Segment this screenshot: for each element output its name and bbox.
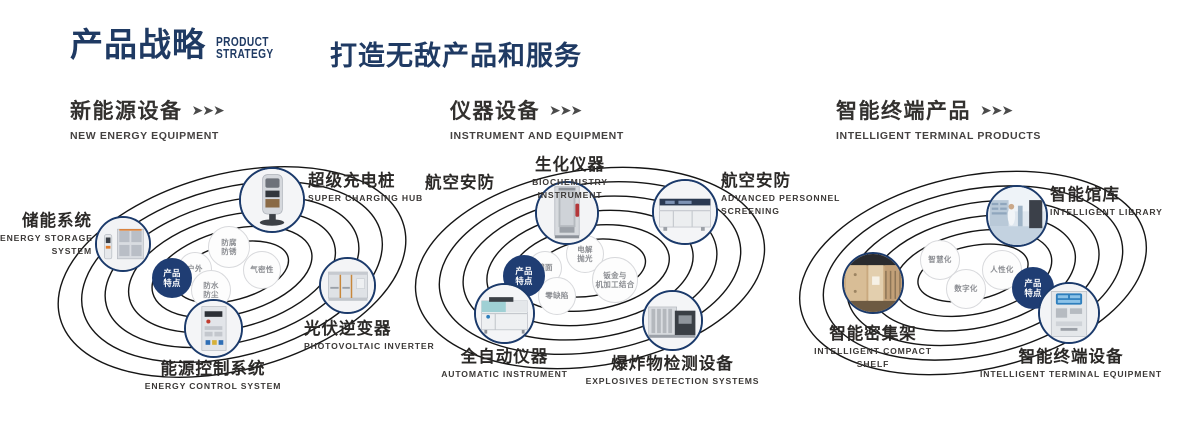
feature-bubble-text-2: 防锈 [221, 247, 237, 256]
feature-bubble: 钣金与 机加工结合 [592, 257, 638, 303]
node-caption-intelligent-terminal-equipment: 智能终端设备 INTELLIGENT TERMINAL EQUIPMENT [962, 348, 1180, 380]
node-explosives-detection-systems[interactable] [642, 290, 703, 351]
node-caption-cn: 全自动仪器 [408, 348, 601, 367]
center-badge-line2: 特点 [163, 278, 180, 288]
compact-shelf-photo [844, 254, 902, 312]
ev-charging-pile-photo [241, 169, 303, 231]
orbit-rings-new-energy [0, 0, 430, 422]
feature-bubble-text: 防水 [203, 281, 219, 290]
feature-bubble: 气密性 [243, 251, 281, 289]
cluster-new-energy: 户外 防腐 防锈 防水 防尘 气密性 产品 特点 [0, 0, 430, 422]
automatic-instrument-photo [476, 285, 533, 342]
node-caption-en-line1: INTELLIGENT LIBRARY [1050, 207, 1163, 218]
feature-bubble-text: 数字化 [954, 284, 977, 293]
node-caption-cn: 爆炸物检测设备 [575, 355, 770, 374]
node-caption-en-line1: BIOCHEMISTRY [505, 177, 635, 188]
node-caption-cn: 能源控制系统 [113, 360, 313, 379]
node-caption-en-line2: SYSTEM [0, 246, 92, 257]
node-caption-cn: 储能系统 [0, 212, 92, 231]
node-caption-explosives-detection-systems: 爆炸物检测设备 EXPLOSIVES DETECTION SYSTEMS [575, 355, 770, 387]
node-caption-cn: 智能终端设备 [962, 348, 1180, 367]
node-caption-en-line1: ENERGY CONTROL SYSTEM [113, 381, 313, 392]
node-caption-en-line2: SHELF [790, 359, 956, 370]
feature-bubble-text-2: 抛光 [577, 254, 593, 263]
feature-bubble-text-2: 机加工结合 [596, 280, 635, 289]
node-energy-storage-system[interactable] [95, 216, 151, 272]
node-photovoltaic-inverter[interactable] [319, 257, 376, 314]
node-caption-cn: 航空安防 [400, 174, 495, 193]
node-intelligent-compact-shelf[interactable] [842, 252, 904, 314]
node-caption-automatic-instrument: 全自动仪器 AUTOMATIC INSTRUMENT [408, 348, 601, 380]
feature-bubble-text: 防腐 [221, 238, 237, 247]
feature-bubble-text: 钣金与 [603, 271, 626, 280]
energy-control-cabinet-photo [186, 301, 241, 356]
node-advanced-personnel-screening[interactable] [652, 179, 718, 245]
node-intelligent-terminal-equipment[interactable] [1038, 282, 1100, 344]
center-badge-line1: 产品 [515, 266, 532, 276]
center-badge-product-features: 产品 特点 [152, 258, 192, 298]
feature-bubble-text: 气密性 [250, 265, 273, 274]
feature-bubble-text: 电解 [577, 245, 593, 254]
node-super-charging-hub[interactable] [239, 167, 305, 233]
node-caption-energy-control-system: 能源控制系统 ENERGY CONTROL SYSTEM [113, 360, 313, 392]
node-caption-en-line1: INTELLIGENT COMPACT [790, 346, 956, 357]
product-strategy-infographic: 产品战略 PRODUCT STRATEGY 打造无敌产品和服务 新能源设备 ➤➤… [0, 0, 1200, 422]
feature-bubble-text: 人性化 [990, 265, 1013, 274]
node-intelligent-library[interactable] [986, 185, 1048, 247]
cluster-instrument: 航空安防 镜面 电解 抛光 零缺陷 钣金与 机加工结合 产品 特点 [390, 0, 820, 422]
energy-storage-cabinet-photo [97, 218, 149, 270]
photovoltaic-inverter-photo [321, 259, 374, 312]
node-caption-en-line1: ENERGY STORAGE [0, 233, 92, 244]
node-energy-control-system[interactable] [184, 299, 243, 358]
intelligent-terminal-kiosk-photo [1040, 284, 1098, 342]
node-caption-cn: 生化仪器 [505, 156, 635, 175]
node-caption-cn: 智能密集架 [790, 325, 956, 344]
node-automatic-instrument[interactable] [474, 283, 535, 344]
center-badge-line1: 产品 [163, 268, 180, 278]
feature-bubble: 数字化 [946, 269, 986, 309]
cluster-intelligent-terminal: 智慧化 数字化 人性化 产品 特点 [780, 0, 1200, 422]
node-caption-intelligent-compact-shelf: 智能密集架 INTELLIGENT COMPACT SHELF [790, 325, 956, 370]
node-caption-cn: 智能馆库 [1050, 186, 1163, 205]
explosives-detection-system-photo [644, 292, 701, 349]
node-caption-en-line1: EXPLOSIVES DETECTION SYSTEMS [575, 376, 770, 387]
node-caption-en-line1: INTELLIGENT TERMINAL EQUIPMENT [962, 369, 1180, 380]
node-caption-energy-storage-system: 储能系统 ENERGY STORAGE SYSTEM [0, 212, 92, 257]
node-caption-en-line1: AUTOMATIC INSTRUMENT [408, 369, 601, 380]
node-caption-aviation-security: 航空安防 [400, 174, 495, 193]
intelligent-library-photo [988, 187, 1046, 245]
feature-bubble-text: 零缺陷 [545, 291, 568, 300]
personnel-screening-machine-photo [654, 181, 716, 243]
node-caption-biochemistry-instrument: 生化仪器 BIOCHEMISTRY INSTRUMENT [505, 156, 635, 201]
feature-bubble-text: 智慧化 [928, 255, 951, 264]
node-caption-intelligent-library: 智能馆库 INTELLIGENT LIBRARY [1050, 186, 1163, 218]
node-caption-en-line2: INSTRUMENT [505, 190, 635, 201]
feature-bubble-text-2: 防尘 [203, 290, 219, 299]
